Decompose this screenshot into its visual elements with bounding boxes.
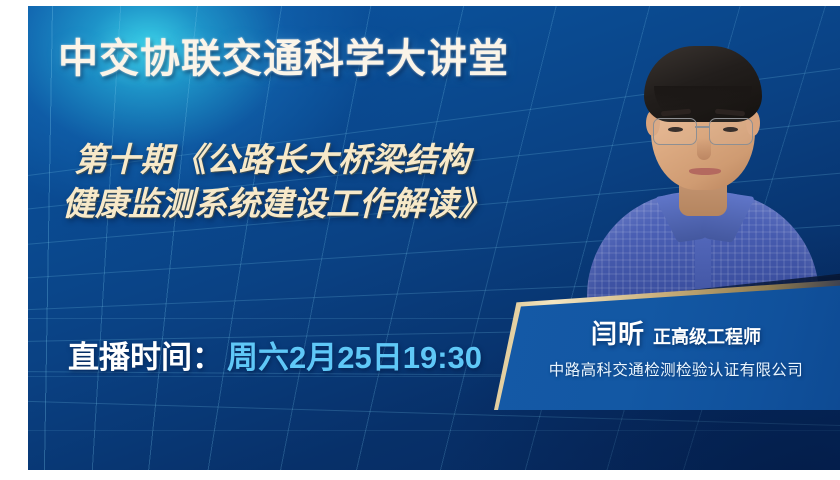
poster-headline: 中交协联交通科学大讲堂 — [58, 26, 509, 84]
speaker-name: 闫昕 — [591, 319, 645, 349]
speaker-plate: 闫昕正高级工程师 中路高科交通检测检验认证有限公司 — [494, 278, 840, 410]
portrait-nose — [697, 138, 711, 160]
poster-stage: 中交协联交通科学大讲堂 第十期《公路长大桥梁结构 健康监测系统建设工作解读》 直… — [28, 6, 840, 470]
speaker-name-row: 闫昕正高级工程师 — [494, 314, 840, 351]
glasses-lens-right — [709, 118, 753, 145]
portrait-mouth — [689, 168, 721, 175]
live-time-label: 直播时间： — [68, 340, 223, 375]
poster-subtitle: 第十期《公路长大桥梁结构 健康监测系统建设工作解读》 — [74, 138, 491, 225]
speaker-portrait — [573, 14, 831, 314]
live-time-line: 直播时间：周六2月25日19:30 — [68, 332, 482, 377]
glasses-bridge — [695, 126, 709, 128]
speaker-role: 正高级工程师 — [653, 327, 761, 347]
subtitle-line-1: 第十期《公路长大桥梁结构 — [74, 138, 491, 182]
promo-poster: 中交协联交通科学大讲堂 第十期《公路长大桥梁结构 健康监测系统建设工作解读》 直… — [0, 0, 840, 480]
speaker-plate-content: 闫昕正高级工程师 中路高科交通检测检验认证有限公司 — [494, 278, 840, 410]
subtitle-line-2: 健康监测系统建设工作解读》 — [62, 182, 491, 226]
glasses-lens-left — [653, 118, 697, 145]
live-time-value: 周六2月25日19:30 — [227, 340, 482, 375]
speaker-organization: 中路高科交通检测检验认证有限公司 — [494, 358, 840, 380]
